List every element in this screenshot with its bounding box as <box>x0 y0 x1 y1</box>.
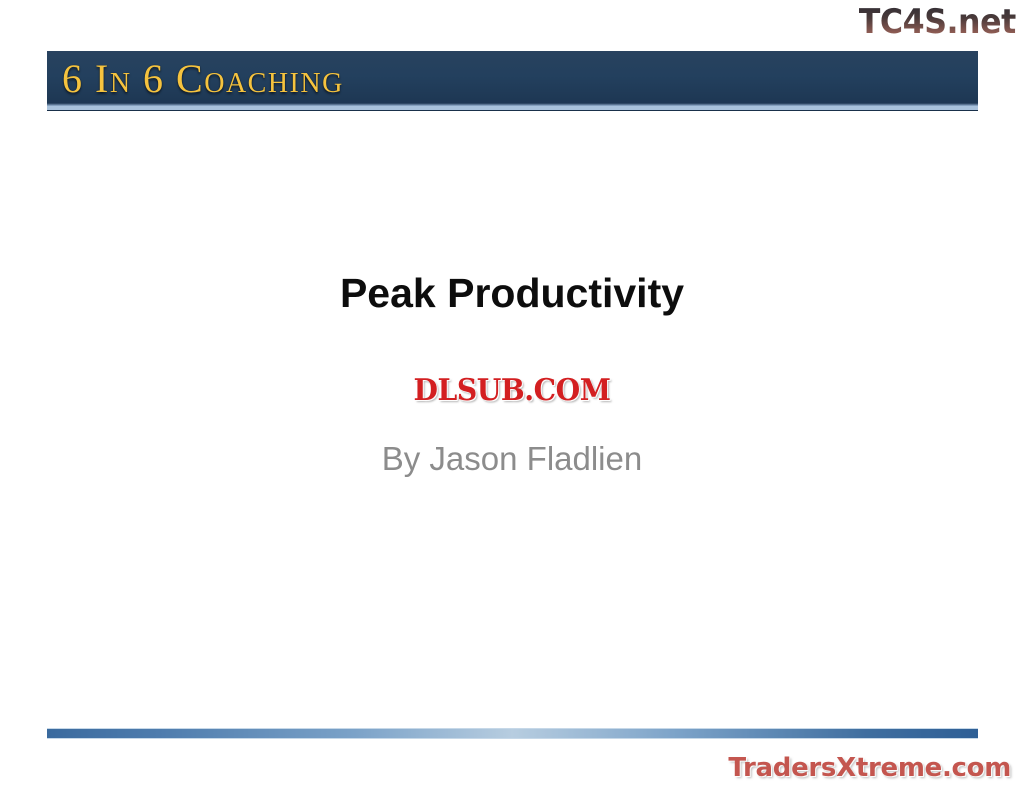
tc4s-watermark: TC4S.net <box>859 2 1016 42</box>
dlsub-watermark: DLSUB.COM <box>31 374 994 408</box>
slide-canvas: TC4S.net 6 In 6 Coaching Peak Productivi… <box>0 0 1024 791</box>
bottom-divider-rule <box>47 728 978 739</box>
slide-title: Peak Productivity <box>0 268 1024 318</box>
header-banner: 6 In 6 Coaching <box>47 51 978 110</box>
slide-subtitle-author: By Jason Fladlien <box>0 438 1024 480</box>
tradersxtreme-watermark: TradersXtreme.com <box>728 752 1011 784</box>
header-banner-title: 6 In 6 Coaching <box>62 53 344 105</box>
